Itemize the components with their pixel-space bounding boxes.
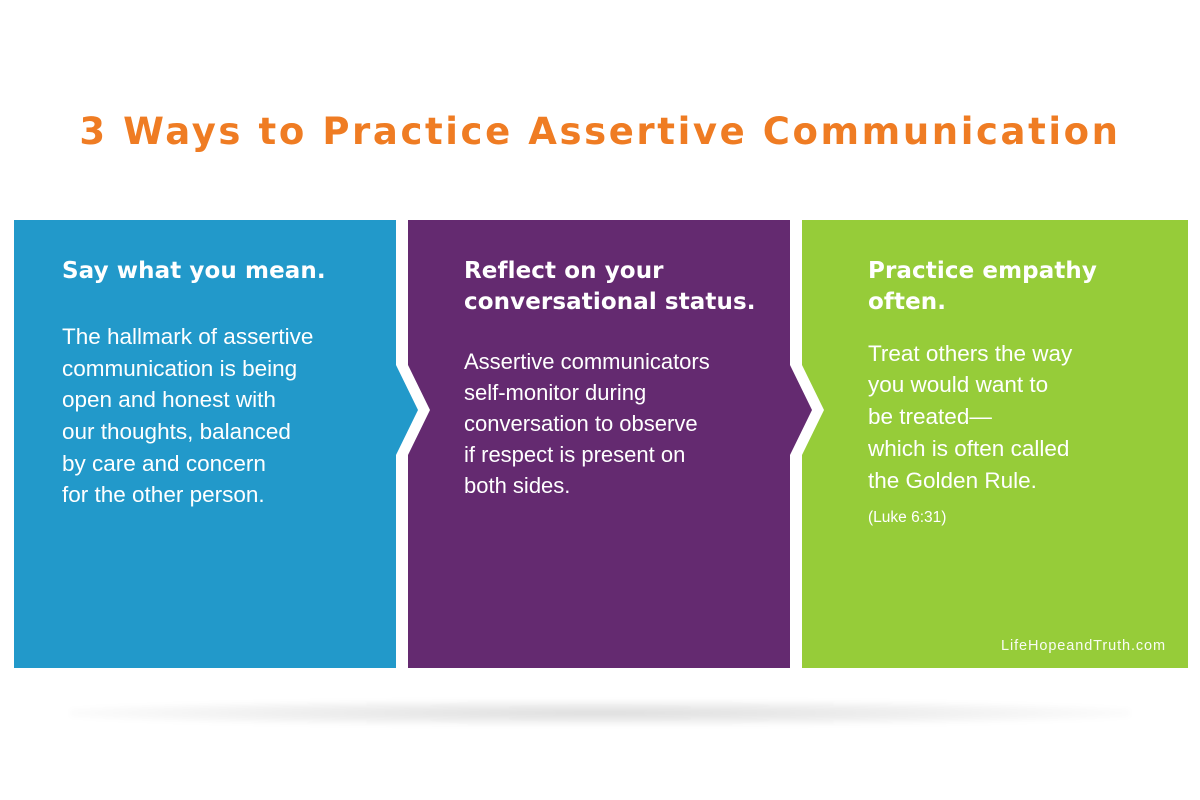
- page-title-bar: 3 Ways to Practice Assertive Communicati…: [0, 112, 1200, 153]
- panel-heading: Practice empathy often.: [868, 256, 1160, 318]
- panel-body: Treat others the way you would want to b…: [868, 338, 1160, 497]
- panel-band-shadow: [70, 700, 1130, 726]
- panel-content: Practice empathy often. Treat others the…: [868, 256, 1160, 528]
- infographic-root: 3 Ways to Practice Assertive Communicati…: [0, 0, 1200, 800]
- panel-heading: Say what you mean.: [62, 256, 378, 287]
- site-watermark: LifeHopeandTruth.com: [1001, 638, 1166, 654]
- panel-content: Say what you mean. The hallmark of asser…: [62, 256, 378, 511]
- page-title: 3 Ways to Practice Assertive Communicati…: [79, 112, 1120, 153]
- panel-body: Assertive communicators self-monitor dur…: [464, 346, 786, 501]
- panel-scripture-citation: (Luke 6:31): [868, 508, 1160, 528]
- panel-body: The hallmark of assertive communication …: [62, 321, 378, 511]
- panel-band: Say what you mean. The hallmark of asser…: [14, 220, 1188, 668]
- panel-practice-empathy-often: Practice empathy often. Treat others the…: [802, 220, 1188, 668]
- panel-say-what-you-mean: Say what you mean. The hallmark of asser…: [14, 220, 418, 668]
- panel-reflect-on-conversational-status: Reflect on your conversational status. A…: [408, 220, 812, 668]
- panel-heading: Reflect on your conversational status.: [464, 256, 786, 318]
- panel-content: Reflect on your conversational status. A…: [464, 256, 786, 501]
